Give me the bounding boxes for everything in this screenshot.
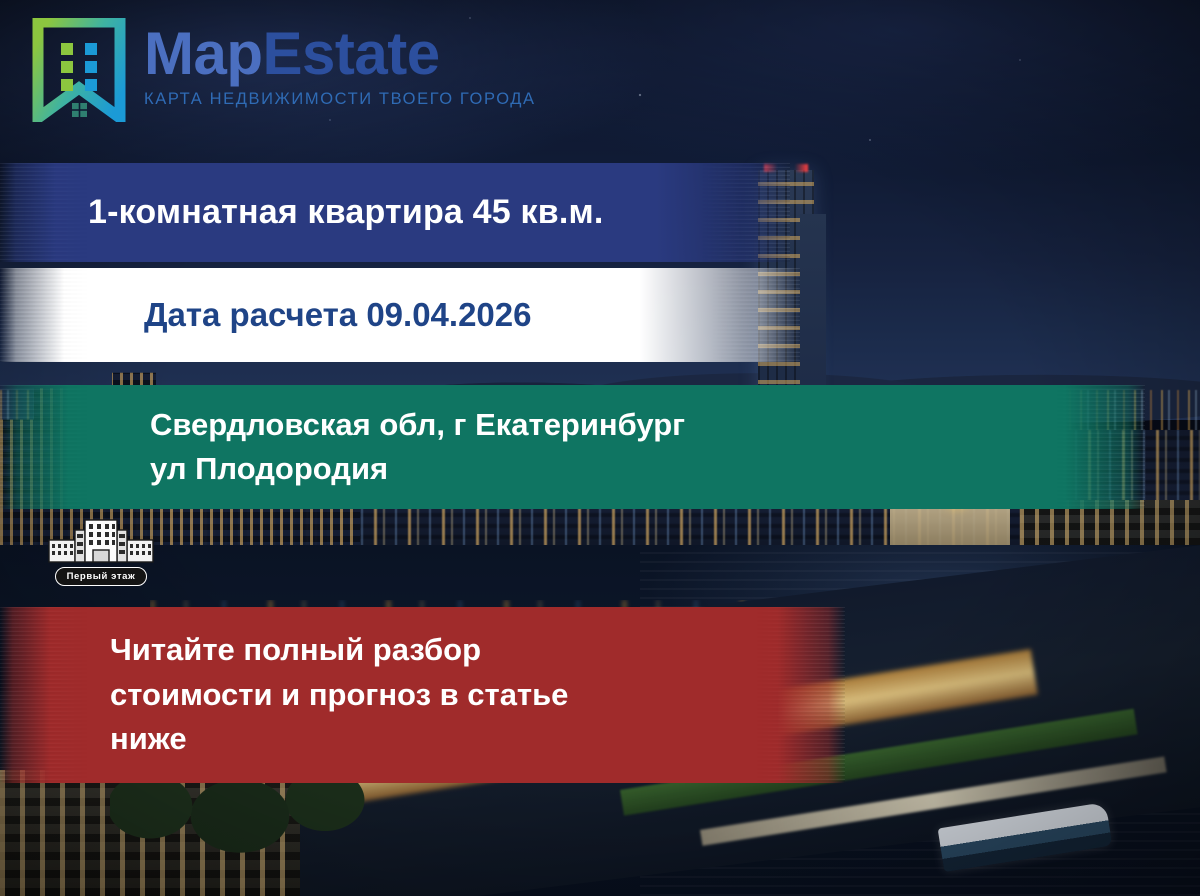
cta-band: Читайте полный разбор стоимости и прогно… (0, 607, 845, 783)
address-band: Свердловская обл, г Екатеринбург ул Плод… (0, 385, 1145, 509)
brand-name: MapEstate (144, 24, 536, 84)
brand-name-part2: Estate (263, 20, 440, 87)
title-band: 1-комнатная квартира 45 кв.м. (0, 163, 790, 262)
cta-line-1: Читайте полный разбор (0, 628, 845, 673)
address-line-2: ул Плодородия (0, 447, 1145, 491)
building-watermark-icon (45, 514, 157, 570)
brand-name-part1: Map (144, 20, 263, 87)
source-watermark: Первый этаж (42, 514, 160, 592)
cta-line-3: ниже (0, 717, 845, 762)
promo-banner: MapEstate КАРТА НЕДВИЖИМОСТИ ТВОЕГО ГОРО… (0, 0, 1200, 896)
brand-logo-text: MapEstate КАРТА НЕДВИЖИМОСТИ ТВОЕГО ГОРО… (144, 18, 536, 109)
brand-tagline: КАРТА НЕДВИЖИМОСТИ ТВОЕГО ГОРОДА (144, 90, 536, 109)
brand-logo[interactable]: MapEstate КАРТА НЕДВИЖИМОСТИ ТВОЕГО ГОРО… (30, 18, 536, 122)
calculation-date: Дата расчета 09.04.2026 (0, 296, 800, 334)
property-title: 1-комнатная квартира 45 кв.м. (0, 193, 790, 232)
bookmark-building-icon (30, 18, 128, 122)
address-line-1: Свердловская обл, г Екатеринбург (0, 403, 1145, 447)
watermark-label: Первый этаж (55, 567, 148, 586)
cta-line-2: стоимости и прогноз в статье (0, 673, 845, 718)
date-band: Дата расчета 09.04.2026 (0, 268, 800, 362)
